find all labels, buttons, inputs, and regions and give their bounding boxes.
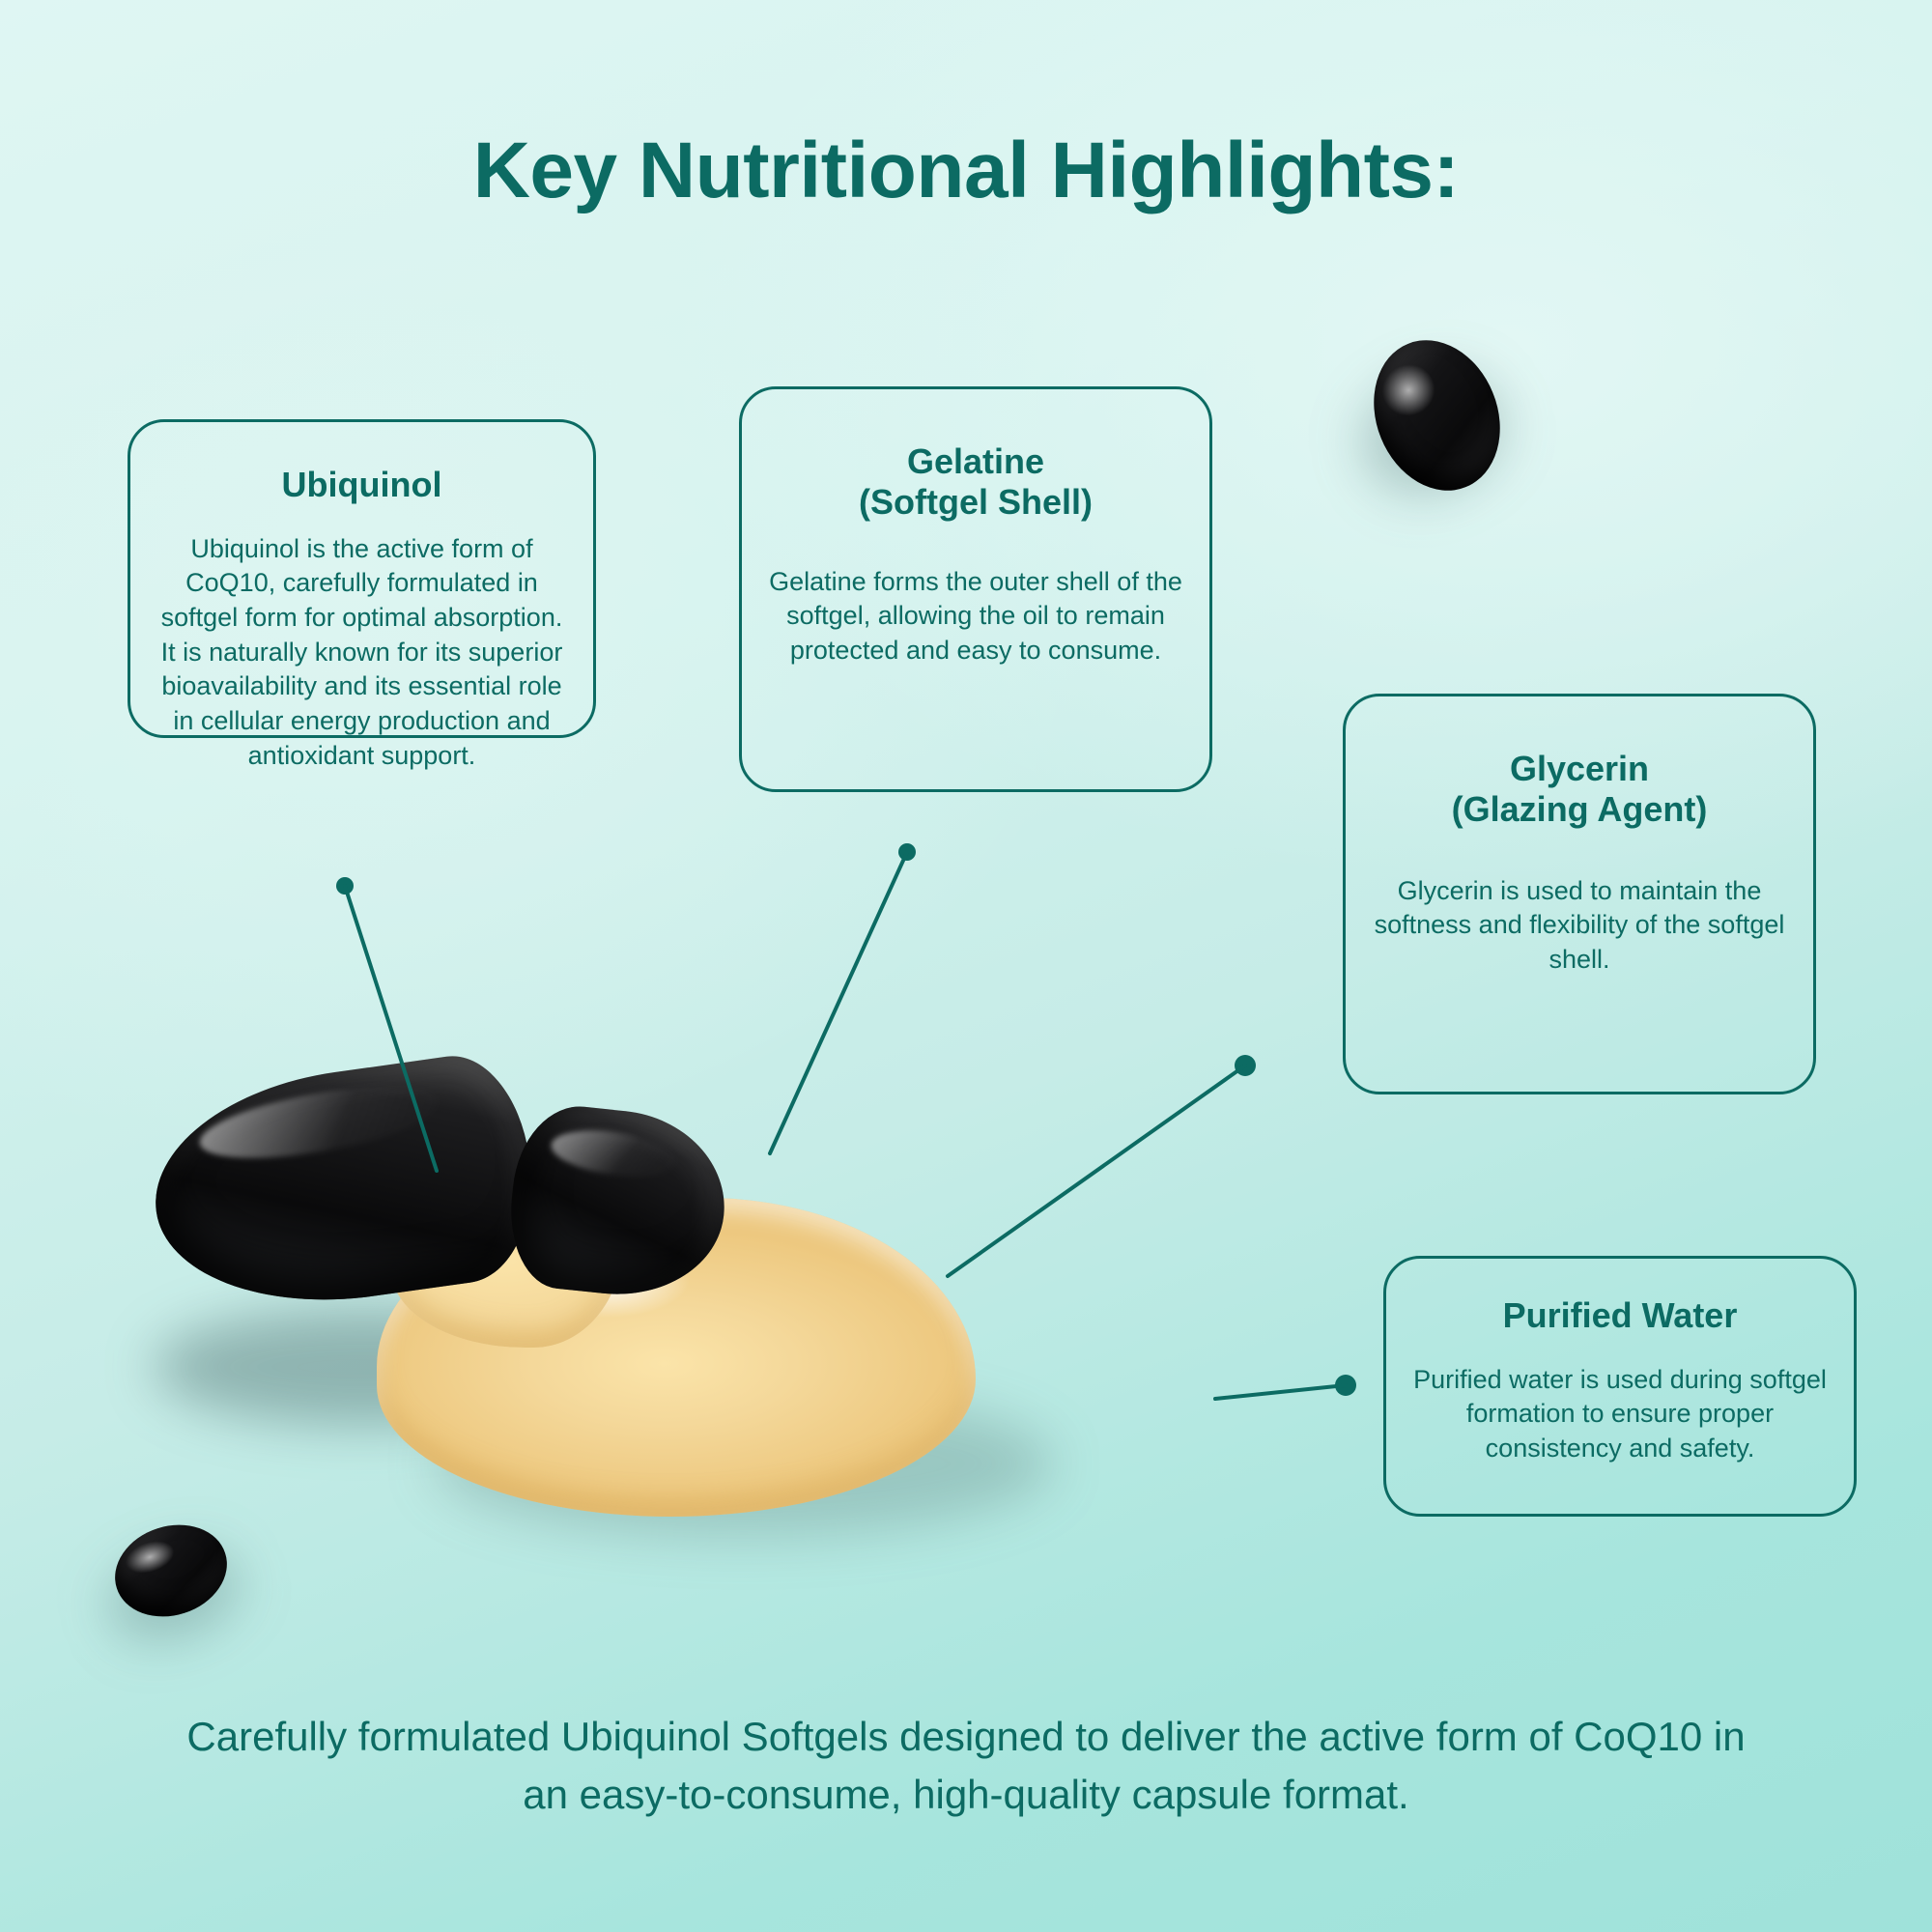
card-body-glycerin: Glycerin is used to maintain the softnes… [1367, 874, 1792, 978]
connector-purified-water [1215, 1375, 1356, 1399]
connector-ubiquinol [336, 877, 437, 1171]
highlight-card-glycerin: Glycerin (Glazing Agent) Glycerin is use… [1343, 694, 1816, 1094]
page-title: Key Nutritional Highlights: [0, 126, 1932, 216]
connector-gelatine [770, 843, 916, 1153]
card-body-ubiquinol: Ubiquinol is the active form of CoQ10, c… [152, 532, 572, 773]
card-title-ubiquinol: Ubiquinol [152, 465, 572, 505]
highlight-card-purified-water: Purified Water Purified water is used du… [1383, 1256, 1857, 1517]
card-body-purified-water: Purified water is used during softgel fo… [1407, 1363, 1833, 1466]
connector-glycerin [948, 1055, 1256, 1276]
highlight-card-ubiquinol: Ubiquinol Ubiquinol is the active form o… [128, 419, 596, 738]
card-title-purified-water: Purified Water [1407, 1295, 1833, 1336]
card-body-gelatine: Gelatine forms the outer shell of the so… [763, 565, 1188, 668]
softgel-capsule-top-right-icon [1352, 321, 1522, 509]
card-title-glycerin: Glycerin (Glazing Agent) [1367, 749, 1792, 830]
card-title-gelatine: Gelatine (Softgel Shell) [763, 441, 1188, 523]
infographic-canvas: Key Nutritional Highlights: Ubiquinol [0, 0, 1932, 1932]
burst-softgel-capsule-artwork [145, 1072, 1236, 1613]
softgel-capsule-bottom-left-icon [103, 1511, 240, 1631]
page-caption: Carefully formulated Ubiquinol Softgels … [174, 1708, 1758, 1823]
highlight-card-gelatine: Gelatine (Softgel Shell) Gelatine forms … [739, 386, 1212, 792]
